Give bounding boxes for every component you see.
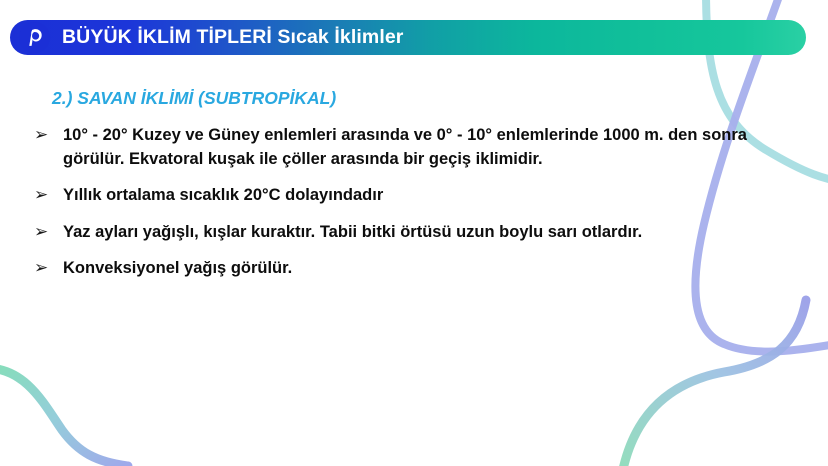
list-item-text: 10° - 20° Kuzey ve Güney enlemleri arası…	[63, 124, 753, 171]
bullet-arrow-icon: ➢	[34, 257, 63, 281]
list-item: ➢ 10° - 20° Kuzey ve Güney enlemleri ara…	[34, 124, 774, 171]
bullet-arrow-icon: ➢	[34, 124, 63, 148]
list-item-text: Konveksiyonel yağış görülür.	[63, 257, 703, 281]
bullet-arrow-icon: ➢	[34, 221, 63, 245]
slide-content: 2.) SAVAN İKLİMİ (SUBTROPİKAL) ➢ 10° - 2…	[0, 0, 828, 466]
section-subtitle: 2.) SAVAN İKLİMİ (SUBTROPİKAL)	[52, 88, 336, 109]
slide-title-text: BÜYÜK İKLİM TİPLERİ Sıcak İklimler	[62, 20, 403, 55]
bullet-list: ➢ 10° - 20° Kuzey ve Güney enlemleri ara…	[34, 124, 774, 294]
list-item: ➢ Yıllık ortalama sıcaklık 20°C dolayınd…	[34, 184, 774, 208]
list-item: ➢ Konveksiyonel yağış görülür.	[34, 257, 774, 281]
list-item-text: Yıllık ortalama sıcaklık 20°C dolayındad…	[63, 184, 753, 208]
slide-title-bar: BÜYÜK İKLİM TİPLERİ Sıcak İklimler	[10, 20, 806, 55]
list-item: ➢ Yaz ayları yağışlı, kışlar kuraktır. T…	[34, 221, 774, 245]
list-item-text: Yaz ayları yağışlı, kışlar kuraktır. Tab…	[63, 221, 703, 245]
slide-canvas: BÜYÜK İKLİM TİPLERİ Sıcak İklimler 2.) S…	[0, 0, 828, 466]
bullet-arrow-icon: ➢	[34, 184, 63, 208]
pinterest-p-logo-icon	[18, 21, 51, 54]
